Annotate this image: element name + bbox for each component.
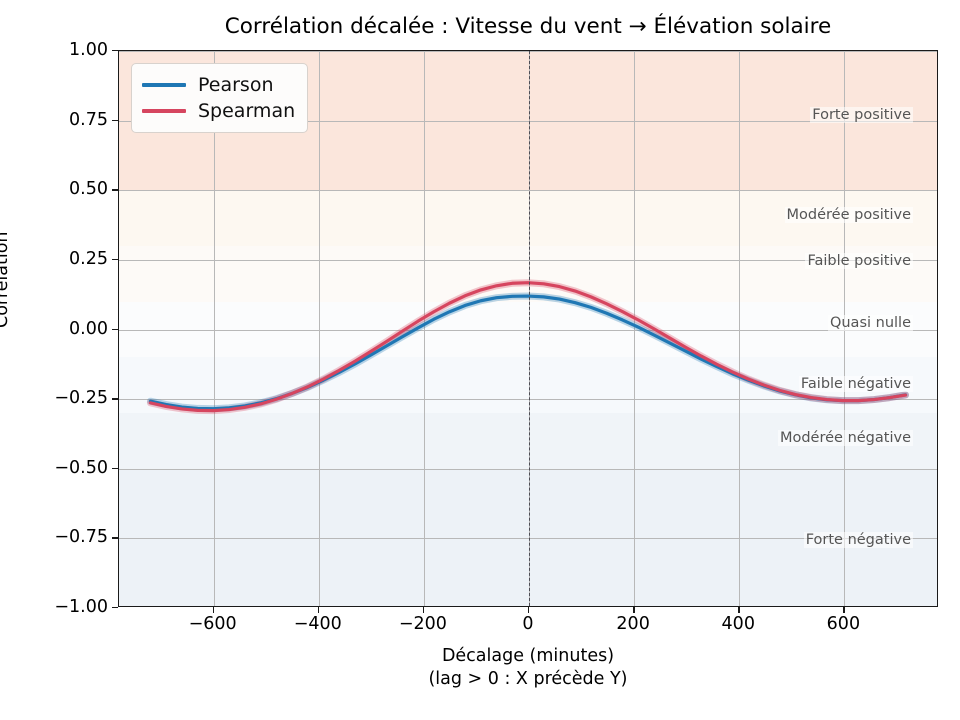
y-axis-label: Corrélation — [0, 232, 12, 329]
legend-color-swatch — [142, 109, 186, 112]
chart-figure: Corrélation décalée : Vitesse du vent → … — [0, 0, 960, 720]
x-tick-mark — [213, 607, 214, 613]
y-tick-label: 0.25 — [69, 249, 108, 269]
y-tick-label: 0.00 — [69, 319, 108, 339]
legend-label: Spearman — [198, 100, 295, 122]
x-tick-mark — [633, 607, 634, 613]
x-axis-label-main: Décalage (minutes) — [118, 645, 938, 668]
band-label: Forte négative — [804, 532, 913, 548]
zero-lag-marker — [529, 51, 530, 606]
y-tick-label: −0.75 — [54, 527, 108, 547]
y-tick-label: −0.25 — [54, 388, 108, 408]
x-tick-label: 600 — [827, 614, 860, 634]
x-tick-label: −400 — [294, 614, 342, 634]
chart-title: Corrélation décalée : Vitesse du vent → … — [118, 14, 938, 39]
plot-area: Forte positiveModérée positiveFaible pos… — [118, 50, 938, 607]
y-tick-label: 0.75 — [69, 110, 108, 130]
series-curves — [119, 51, 937, 606]
legend-color-swatch — [142, 83, 186, 86]
y-tick-label: −0.50 — [54, 458, 108, 478]
series-halo — [150, 283, 905, 411]
x-tick-label: 400 — [722, 614, 755, 634]
x-tick-label: −200 — [399, 614, 447, 634]
y-tick-label: −1.00 — [54, 597, 108, 617]
y-tick-label: 1.00 — [69, 40, 108, 60]
x-tick-mark — [528, 607, 529, 613]
band-label: Modérée positive — [785, 207, 913, 223]
y-tick-mark — [112, 607, 118, 608]
band-label: Modérée négative — [778, 430, 913, 446]
band-label: Faible négative — [799, 376, 913, 392]
x-tick-mark — [423, 607, 424, 613]
x-tick-label: −600 — [189, 614, 237, 634]
band-label: Forte positive — [810, 107, 913, 123]
x-axis-label-sub: (lag > 0 : X précède Y) — [118, 668, 938, 691]
x-tick-mark — [318, 607, 319, 613]
x-tick-label: 200 — [616, 614, 649, 634]
legend-item[interactable]: Spearman — [142, 98, 295, 124]
band-label: Faible positive — [805, 253, 913, 269]
x-axis-label: Décalage (minutes) (lag > 0 : X précède … — [118, 645, 938, 692]
x-tick-label: 0 — [522, 614, 533, 634]
x-tick-mark — [738, 607, 739, 613]
legend-item[interactable]: Pearson — [142, 72, 295, 98]
x-tick-mark — [843, 607, 844, 613]
band-label: Quasi nulle — [828, 315, 913, 331]
legend[interactable]: PearsonSpearman — [131, 63, 308, 133]
legend-label: Pearson — [198, 74, 274, 96]
y-tick-label: 0.50 — [69, 179, 108, 199]
